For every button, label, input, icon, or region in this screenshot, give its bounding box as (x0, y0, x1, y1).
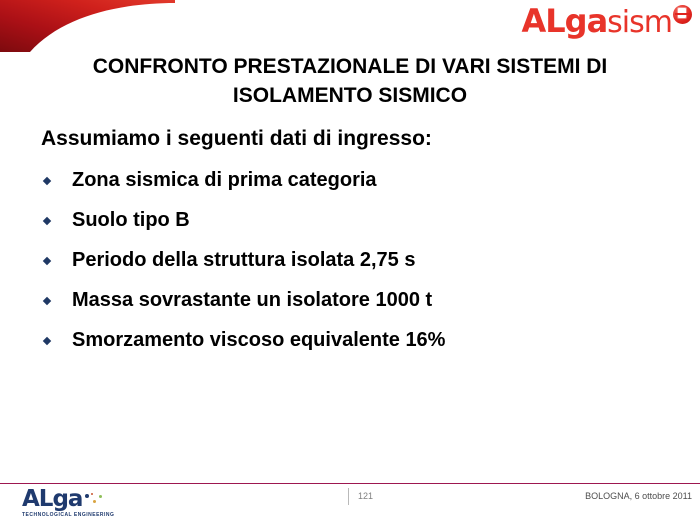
list-item: Periodo della struttura isolata 2,75 s (41, 248, 661, 273)
footer-divider (0, 483, 700, 484)
bullet-diamond-icon (43, 177, 51, 185)
slide-body: Assumiamo i seguenti dati di ingresso: Z… (41, 126, 661, 368)
list-item-label: Massa sovrastante un isolatore 1000 t (72, 289, 432, 311)
page-title: CONFRONTO PRESTAZIONALE DI VARI SISTEMI … (35, 52, 665, 110)
list-item: Suolo tipo B (41, 208, 661, 233)
footer-location-date: BOLOGNA, 6 ottobre 2011 (585, 491, 692, 501)
brand-logo-text: ALgasism (522, 5, 672, 38)
brand-logo-algasism: ALgasism (522, 4, 692, 38)
page-number: 121 (358, 491, 373, 501)
assumptions-list: Zona sismica di prima categoria Suolo ti… (41, 168, 661, 353)
bullet-diamond-icon (43, 217, 51, 225)
bullet-diamond-icon (43, 257, 51, 265)
brand-logo-text-thin: sism (607, 5, 672, 40)
list-item: Massa sovrastante un isolatore 1000 t (41, 288, 661, 313)
body-lead-text: Assumiamo i seguenti dati di ingresso: (41, 126, 661, 152)
red-swoosh-decoration (0, 0, 175, 52)
bullet-diamond-icon (43, 337, 51, 345)
slide-canvas: ALgasism CONFRONTO PRESTAZIONALE DI VARI… (0, 0, 700, 525)
bullet-diamond-icon (43, 297, 51, 305)
list-item: Zona sismica di prima categoria (41, 168, 661, 193)
brand-logo-text-bold: ALga (522, 2, 608, 40)
list-item-label: Periodo della struttura isolata 2,75 s (72, 249, 415, 271)
list-item: Smorzamento viscoso equivalente 16% (41, 328, 661, 353)
brand-badge-icon (673, 5, 692, 24)
footer-logo-tagline: TECHNOLOGICAL ENGINEERING (22, 512, 142, 518)
footer-separator (348, 488, 349, 505)
footer-logo-dots-icon (82, 492, 108, 508)
list-item-label: Suolo tipo B (72, 209, 190, 231)
list-item-label: Zona sismica di prima categoria (72, 169, 377, 191)
list-item-label: Smorzamento viscoso equivalente 16% (72, 329, 445, 351)
